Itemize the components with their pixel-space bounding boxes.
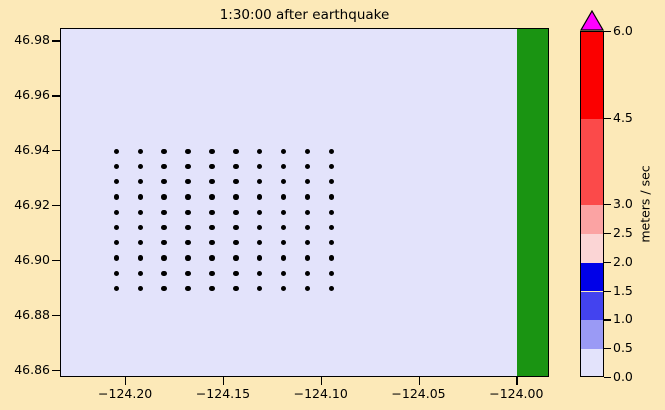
x-tick-label: −124.10 [294, 387, 348, 400]
gauge-point [138, 255, 143, 260]
gauge-point [209, 164, 214, 169]
gauge-point [305, 164, 310, 169]
map-plot-area[interactable] [60, 28, 549, 377]
x-tick-label: −124.00 [489, 387, 543, 400]
gauge-point [329, 240, 334, 245]
gauge-point [209, 286, 214, 291]
gauge-point [233, 286, 238, 291]
gauge-point [161, 255, 166, 260]
y-tick-mark [52, 205, 60, 206]
gauge-point [257, 225, 262, 230]
colorbar-tick-label: 1.5 [613, 285, 633, 297]
gauge-point [161, 271, 166, 276]
gauge-point [257, 271, 262, 276]
gauge-point [257, 149, 262, 154]
gauge-point [257, 240, 262, 245]
gauge-point [209, 225, 214, 230]
gauge-point [281, 240, 286, 245]
gauge-point [209, 271, 214, 276]
x-tick-label: −124.15 [196, 387, 250, 400]
colorbar[interactable] [580, 31, 604, 377]
gauge-point [185, 225, 190, 230]
x-tick-mark [125, 377, 126, 385]
gauge-point [233, 255, 238, 260]
colorbar-tick-mark [604, 348, 611, 349]
gauge-point [161, 240, 166, 245]
gauge-point [185, 149, 190, 154]
gauge-point [233, 271, 238, 276]
gauge-point [329, 271, 334, 276]
gauge-point [305, 194, 310, 199]
colorbar-tick-label: 4.5 [613, 112, 633, 124]
gauge-point [233, 149, 238, 154]
gauge-point [138, 149, 143, 154]
gauge-point [305, 210, 310, 215]
gauge-point [329, 149, 334, 154]
gauge-scatter-layer [61, 29, 548, 376]
gauge-point [185, 240, 190, 245]
y-tick-mark [52, 370, 60, 371]
gauge-point [209, 210, 214, 215]
colorbar-band [581, 349, 603, 377]
gauge-point [138, 179, 143, 184]
gauge-point [281, 255, 286, 260]
colorbar-tick-label: 0.5 [613, 342, 633, 354]
colorbar-tick-mark [604, 31, 611, 32]
gauge-point [138, 164, 143, 169]
gauge-point [305, 225, 310, 230]
y-tick-label: 46.90 [14, 254, 50, 266]
gauge-point [185, 179, 190, 184]
gauge-point [114, 255, 119, 260]
gauge-point [281, 225, 286, 230]
gauge-point [329, 210, 334, 215]
gauge-point [161, 164, 166, 169]
colorbar-tick-label: 2.5 [613, 227, 633, 239]
y-tick-mark [52, 315, 60, 316]
y-tick-label: 46.86 [14, 364, 50, 376]
gauge-point [281, 179, 286, 184]
gauge-point [185, 194, 190, 199]
gauge-point [209, 179, 214, 184]
x-tick-label: −124.20 [98, 387, 152, 400]
y-tick-label: 46.96 [14, 89, 50, 101]
gauge-point [257, 179, 262, 184]
gauge-point [281, 210, 286, 215]
colorbar-band [581, 234, 603, 263]
colorbar-band [581, 263, 603, 292]
gauge-point [257, 164, 262, 169]
gauge-point [161, 225, 166, 230]
gauge-point [138, 225, 143, 230]
gauge-point [281, 194, 286, 199]
colorbar-tick-label: 2.0 [613, 256, 633, 268]
gauge-point [185, 286, 190, 291]
colorbar-extend-arrow [580, 10, 604, 31]
gauge-point [305, 149, 310, 154]
gauge-point [209, 194, 214, 199]
gauge-point [257, 286, 262, 291]
gauge-point [233, 194, 238, 199]
colorbar-tick-label: 1.0 [613, 313, 633, 325]
gauge-point [161, 194, 166, 199]
colorbar-tick-mark [604, 262, 611, 263]
page-title: 1:30:00 after earthquake [60, 7, 549, 23]
y-tick-mark [52, 40, 60, 41]
gauge-point [209, 255, 214, 260]
gauge-point [138, 194, 143, 199]
gauge-point [114, 271, 119, 276]
gauge-point [281, 271, 286, 276]
gauge-point [114, 240, 119, 245]
gauge-point [185, 255, 190, 260]
y-tick-label: 46.98 [14, 34, 50, 46]
gauge-point [305, 255, 310, 260]
gauge-point [233, 240, 238, 245]
gauge-point [161, 210, 166, 215]
colorbar-tick-mark [604, 204, 611, 205]
x-tick-mark [321, 377, 322, 385]
gauge-point [329, 286, 334, 291]
gauge-point [233, 179, 238, 184]
colorbar-tick-mark [604, 233, 611, 234]
gauge-point [305, 179, 310, 184]
gauge-point [257, 194, 262, 199]
gauge-point [209, 240, 214, 245]
gauge-point [329, 164, 334, 169]
colorbar-band [581, 119, 603, 206]
gauge-point [161, 179, 166, 184]
gauge-point [281, 149, 286, 154]
gauge-point [114, 149, 119, 154]
gauge-point [161, 286, 166, 291]
gauge-point [138, 240, 143, 245]
gauge-point [114, 194, 119, 199]
gauge-point [305, 240, 310, 245]
gauge-point [138, 271, 143, 276]
gauge-point [209, 149, 214, 154]
gauge-point [257, 255, 262, 260]
gauge-point [114, 286, 119, 291]
colorbar-band [581, 292, 603, 321]
gauge-point [114, 225, 119, 230]
gauge-point [185, 164, 190, 169]
gauge-point [329, 255, 334, 260]
y-tick-mark [52, 260, 60, 261]
gauge-point [114, 179, 119, 184]
gauge-point [114, 210, 119, 215]
colorbar-tick-label: 6.0 [613, 25, 633, 37]
gauge-point [305, 271, 310, 276]
x-tick-mark [516, 377, 517, 385]
colorbar-axis-label: meters / sec [638, 165, 653, 242]
colorbar-tick-mark [604, 319, 611, 320]
y-tick-label: 46.94 [14, 144, 50, 156]
gauge-point [329, 194, 334, 199]
y-tick-mark [52, 95, 60, 96]
colorbar-band [581, 320, 603, 349]
gauge-point [114, 164, 119, 169]
y-tick-mark [52, 150, 60, 151]
colorbar-band [581, 32, 603, 119]
colorbar-tick-mark [604, 377, 611, 378]
colorbar-band [581, 205, 603, 234]
colorbar-tick-label: 3.0 [613, 198, 633, 210]
gauge-point [185, 210, 190, 215]
y-tick-label: 46.92 [14, 199, 50, 211]
colorbar-tick-mark [604, 291, 611, 292]
gauge-point [305, 286, 310, 291]
gauge-point [281, 164, 286, 169]
y-tick-label: 46.88 [14, 309, 50, 321]
gauge-point [233, 164, 238, 169]
figure-canvas: 1:30:00 after earthquake 46.8646.8846.90… [0, 0, 665, 410]
colorbar-tick-mark [604, 118, 611, 119]
gauge-point [233, 225, 238, 230]
gauge-point [138, 286, 143, 291]
gauge-point [233, 210, 238, 215]
gauge-point [185, 271, 190, 276]
gauge-point [281, 286, 286, 291]
colorbar-tick-label: 0.0 [613, 371, 633, 383]
x-tick-mark [419, 377, 420, 385]
gauge-point [138, 210, 143, 215]
gauge-point [329, 179, 334, 184]
gauge-point [257, 210, 262, 215]
x-tick-mark [223, 377, 224, 385]
gauge-point [329, 225, 334, 230]
x-tick-label: −124.05 [391, 387, 445, 400]
gauge-point [161, 149, 166, 154]
